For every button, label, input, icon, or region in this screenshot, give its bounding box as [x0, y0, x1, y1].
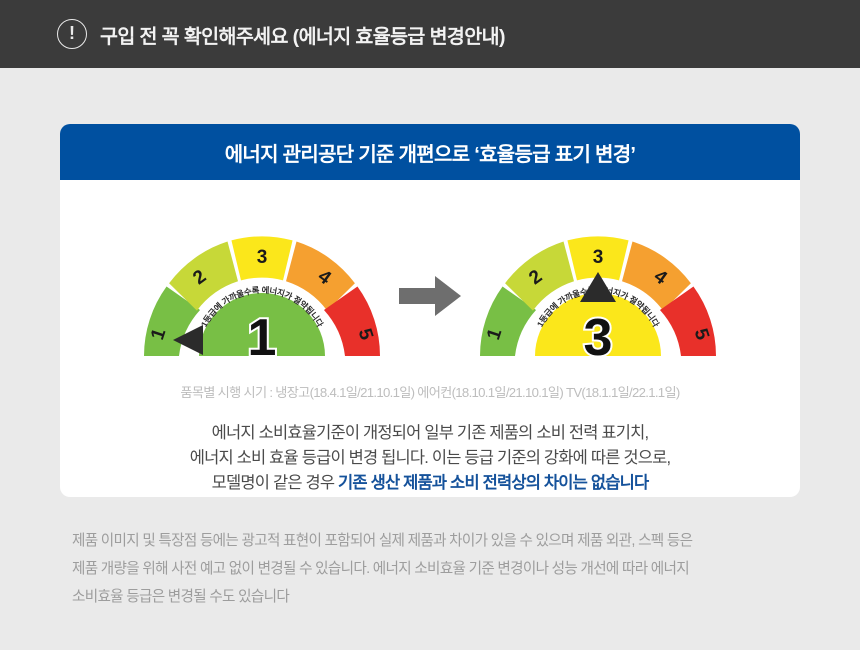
- gauge-segment-label-3: 3: [257, 247, 268, 268]
- right-arrow-icon: [399, 276, 461, 316]
- warning-circle-icon: !: [57, 19, 87, 49]
- card-body-text: 에너지 소비효율기준이 개정되어 일부 기존 제품의 소비 전력 표기치, 에너…: [60, 421, 800, 496]
- legal-disclaimer: 제품 이미지 및 특장점 등에는 광고적 표현이 포함되어 실제 제품과 차이가…: [72, 527, 794, 611]
- implementation-schedule-caption: 품목별 시행 시기 : 냉장고(18.4.1일/21.10.1일) 에어컨(18…: [60, 382, 800, 401]
- gauge-before-svg: 1 2 3 4 5 1등급에 가까울수록 에너지가 절약됩니다 1: [137, 222, 387, 370]
- gauge-before: 1 2 3 4 5 1등급에 가까울수록 에너지가 절약됩니다 1: [137, 222, 387, 370]
- card-body-line-3-plain: 모델명이 같은 경우: [212, 474, 338, 492]
- gauge-after-grade: 3: [584, 309, 613, 367]
- gauge-after-svg: 1 2 3 4 5 1등급에 가까울수록 에너지가 절약됩니다 3: [473, 222, 723, 370]
- card-body-line-3: 모델명이 같은 경우 기존 생산 제품과 소비 전력상의 차이는 없습니다: [60, 471, 800, 496]
- card-body-line-1: 에너지 소비효율기준이 개정되어 일부 기존 제품의 소비 전력 표기치,: [60, 421, 800, 446]
- disclaimer-line-1: 제품 이미지 및 특장점 등에는 광고적 표현이 포함되어 실제 제품과 차이가…: [72, 527, 794, 555]
- transition-arrow: [387, 222, 473, 370]
- card-banner: 에너지 관리공단 기준 개편으로 ‘효율등급 표기 변경’: [60, 124, 800, 180]
- disclaimer-line-3: 소비효율 등급은 변경될 수도 있습니다: [72, 583, 794, 611]
- warning-exclamation-glyph: !: [69, 24, 75, 42]
- disclaimer-line-2: 제품 개량을 위해 사전 예고 없이 변경될 수 있습니다. 에너지 소비효율 …: [72, 555, 794, 583]
- gauge-after: 1 2 3 4 5 1등급에 가까울수록 에너지가 절약됩니다 3: [473, 222, 723, 370]
- energy-notice-card: 에너지 관리공단 기준 개편으로 ‘효율등급 표기 변경’ 1 2: [60, 124, 800, 497]
- notice-header-bar: ! 구입 전 꼭 확인해주세요 (에너지 효율등급 변경안내): [0, 0, 860, 68]
- card-body-line-3-emphasis: 기존 생산 제품과 소비 전력상의 차이는 없습니다: [338, 474, 648, 492]
- notice-header-title: 구입 전 꼭 확인해주세요 (에너지 효율등급 변경안내): [100, 20, 505, 49]
- gauge-before-grade: 1: [248, 309, 277, 367]
- card-body-line-2: 에너지 소비 효율 등급이 변경 됩니다. 이는 등급 기준의 강화에 따른 것…: [60, 446, 800, 471]
- card-banner-title: 에너지 관리공단 기준 개편으로 ‘효율등급 표기 변경’: [225, 138, 636, 167]
- gauge-segment-label-3: 3: [593, 247, 604, 268]
- gauge-comparison-row: 1 2 3 4 5 1등급에 가까울수록 에너지가 절약됩니다 1: [60, 202, 800, 370]
